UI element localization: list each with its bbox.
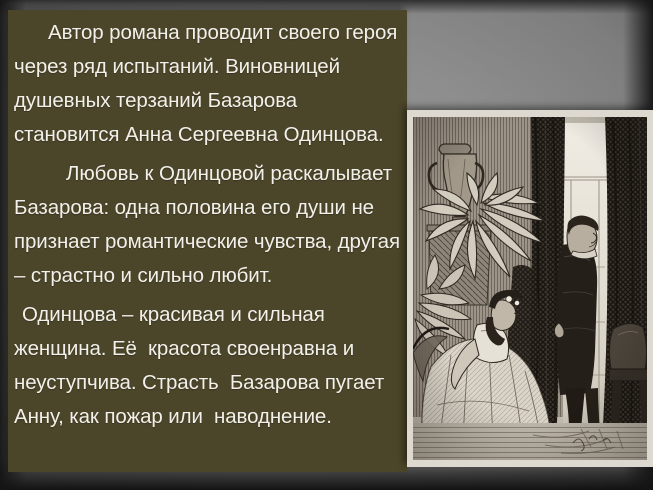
text-panel-body: Автор романа проводит своего героя через… — [8, 10, 407, 434]
paragraph-1: Автор романа проводит своего героя через… — [14, 16, 405, 152]
text-panel: Автор романа проводит своего героя через… — [8, 10, 407, 472]
paragraph-2: Любовь к Одинцовой раскалывает Базарова:… — [14, 157, 405, 293]
engraving-artwork — [413, 117, 647, 460]
illustration-frame — [407, 110, 653, 467]
slide: Автор романа проводит своего героя через… — [0, 0, 653, 490]
paragraph-3: Одинцова – красивая и сильная женщина. Е… — [14, 298, 405, 434]
illustration-image — [413, 117, 647, 460]
